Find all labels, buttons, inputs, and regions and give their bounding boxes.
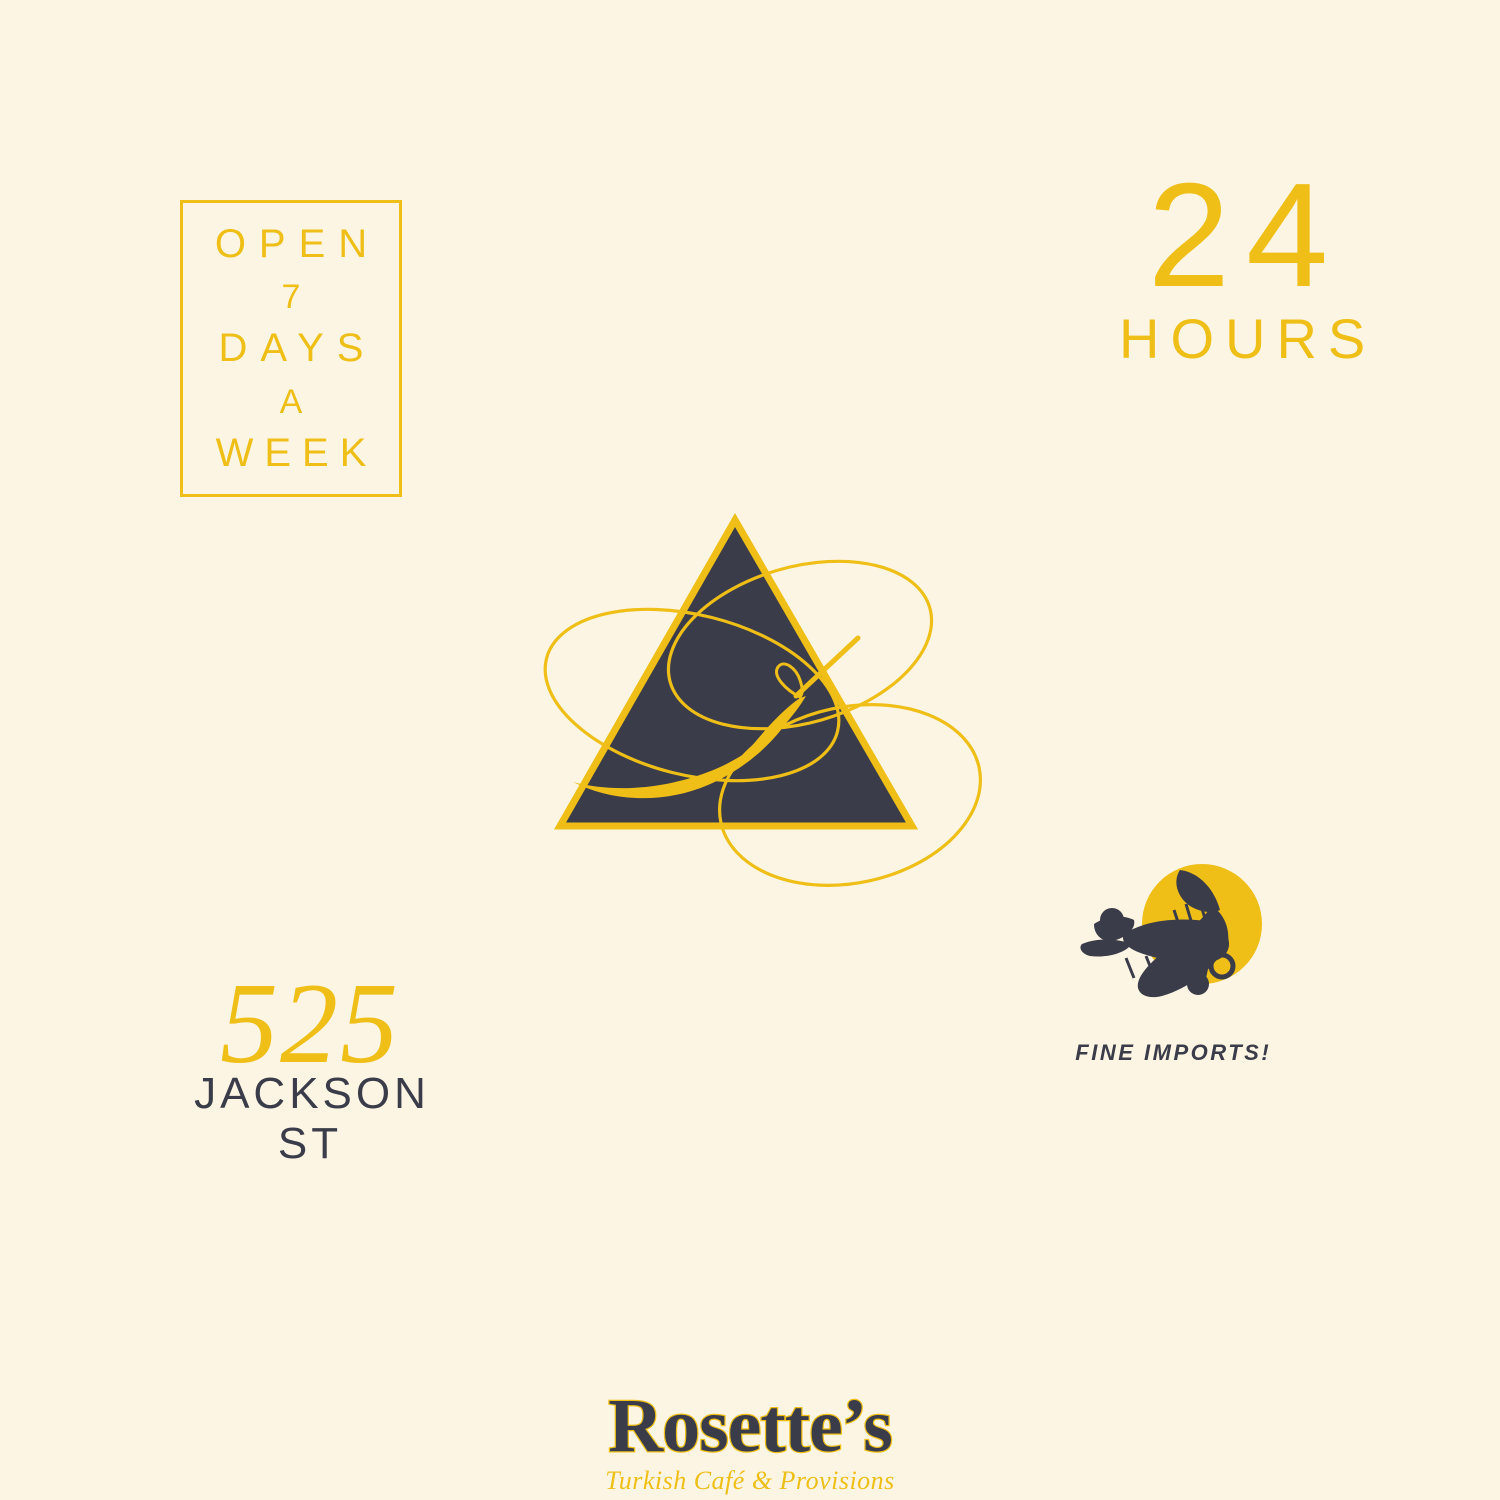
twenty-four-hours-badge: 24 HOURS	[1108, 168, 1368, 371]
open-hours-badge: OPEN 7 DAYS A WEEK	[180, 200, 402, 497]
address-number: 525	[150, 975, 470, 1075]
fine-imports-badge: FINE IMPORTS!	[1062, 862, 1282, 1066]
rosettes-wordmark: Rosette’s Turkish Café & Provisions	[0, 1388, 1500, 1496]
fine-imports-label: FINE IMPORTS!	[1062, 1040, 1282, 1066]
open-badge-line-open: OPEN	[202, 223, 380, 265]
wordmark-name: Rosette’s	[0, 1388, 1500, 1464]
open-badge-line-week: WEEK	[205, 432, 378, 474]
brand-board: OPEN 7 DAYS A WEEK 24 HOURS 525 JACKS	[0, 0, 1500, 1500]
wordmark-tagline: Turkish Café & Provisions	[0, 1466, 1500, 1496]
hours-label: HOURS	[1108, 306, 1368, 371]
biplane-art	[1062, 862, 1282, 1022]
triangle-plume-emblem	[500, 490, 1020, 910]
address-lockup: 525 JACKSON ST	[150, 975, 470, 1169]
open-badge-line-days: DAYS	[206, 327, 377, 369]
address-street: JACKSON ST	[150, 1069, 470, 1169]
hours-number: 24	[1108, 168, 1368, 304]
open-badge-line-seven: 7	[282, 279, 301, 315]
open-badge-line-a: A	[280, 384, 303, 420]
